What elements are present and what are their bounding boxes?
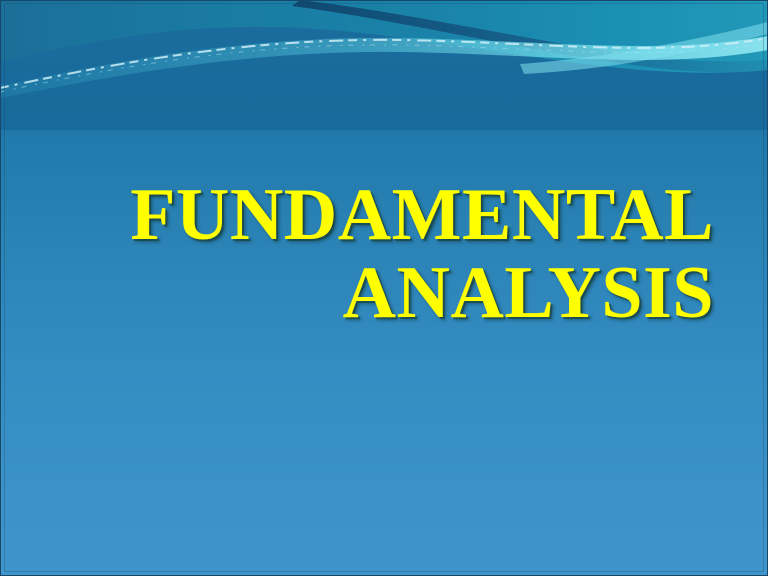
title-slide: FUNDAMENTAL ANALYSIS [0,0,768,576]
title-line-2: ANALYSIS [56,254,714,332]
title-line-1: FUNDAMENTAL [56,176,714,254]
wave-ribbon-group [0,0,768,130]
slide-title: FUNDAMENTAL ANALYSIS [56,176,714,333]
